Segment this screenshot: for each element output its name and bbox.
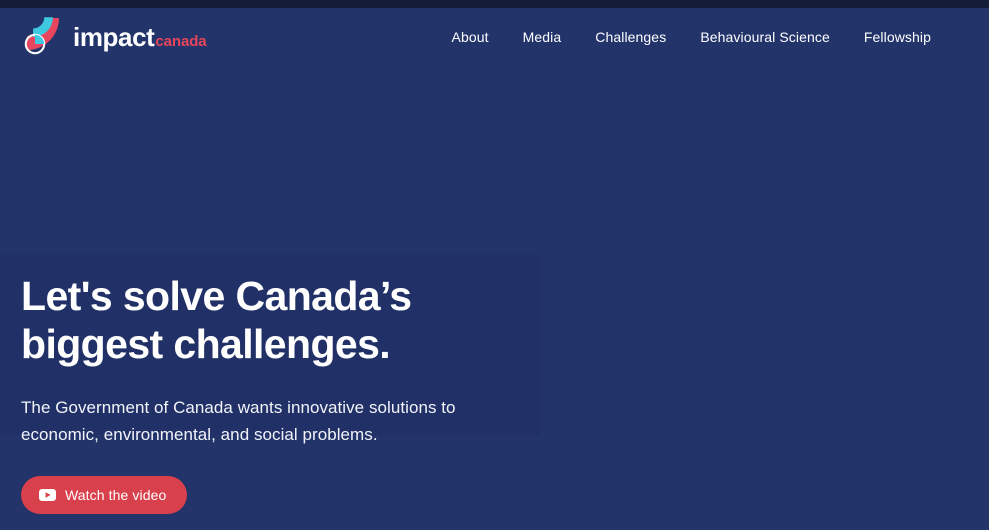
hero-headline: Let's solve Canada’s biggest challenges. bbox=[21, 273, 541, 368]
hero-content: Let's solve Canada’s biggest challenges.… bbox=[21, 273, 581, 514]
nav-item-about[interactable]: About bbox=[452, 29, 489, 45]
top-accent-bar bbox=[0, 0, 989, 8]
watch-the-video-label: Watch the video bbox=[65, 487, 166, 503]
hero-section: Let's solve Canada’s biggest challenges.… bbox=[0, 65, 989, 530]
main-nav: About Media Challenges Behavioural Scien… bbox=[452, 29, 931, 45]
site-header: impactcanada About Media Challenges Beha… bbox=[0, 8, 989, 65]
brand-name-secondary: canada bbox=[155, 34, 206, 49]
nav-item-fellowship[interactable]: Fellowship bbox=[864, 29, 931, 45]
watch-the-video-button[interactable]: Watch the video bbox=[21, 476, 187, 514]
youtube-play-icon bbox=[39, 489, 56, 501]
brand-name-primary: impact bbox=[73, 24, 154, 50]
impact-canada-arc-logo-icon bbox=[20, 17, 64, 57]
nav-item-media[interactable]: Media bbox=[523, 29, 562, 45]
brand-logo-link[interactable]: impactcanada bbox=[20, 17, 207, 57]
brand-wordmark: impactcanada bbox=[73, 24, 207, 50]
nav-item-behavioural-science[interactable]: Behavioural Science bbox=[700, 29, 830, 45]
page-root: impactcanada About Media Challenges Beha… bbox=[0, 0, 989, 530]
nav-item-challenges[interactable]: Challenges bbox=[595, 29, 666, 45]
hero-subheadline: The Government of Canada wants innovativ… bbox=[21, 394, 526, 448]
